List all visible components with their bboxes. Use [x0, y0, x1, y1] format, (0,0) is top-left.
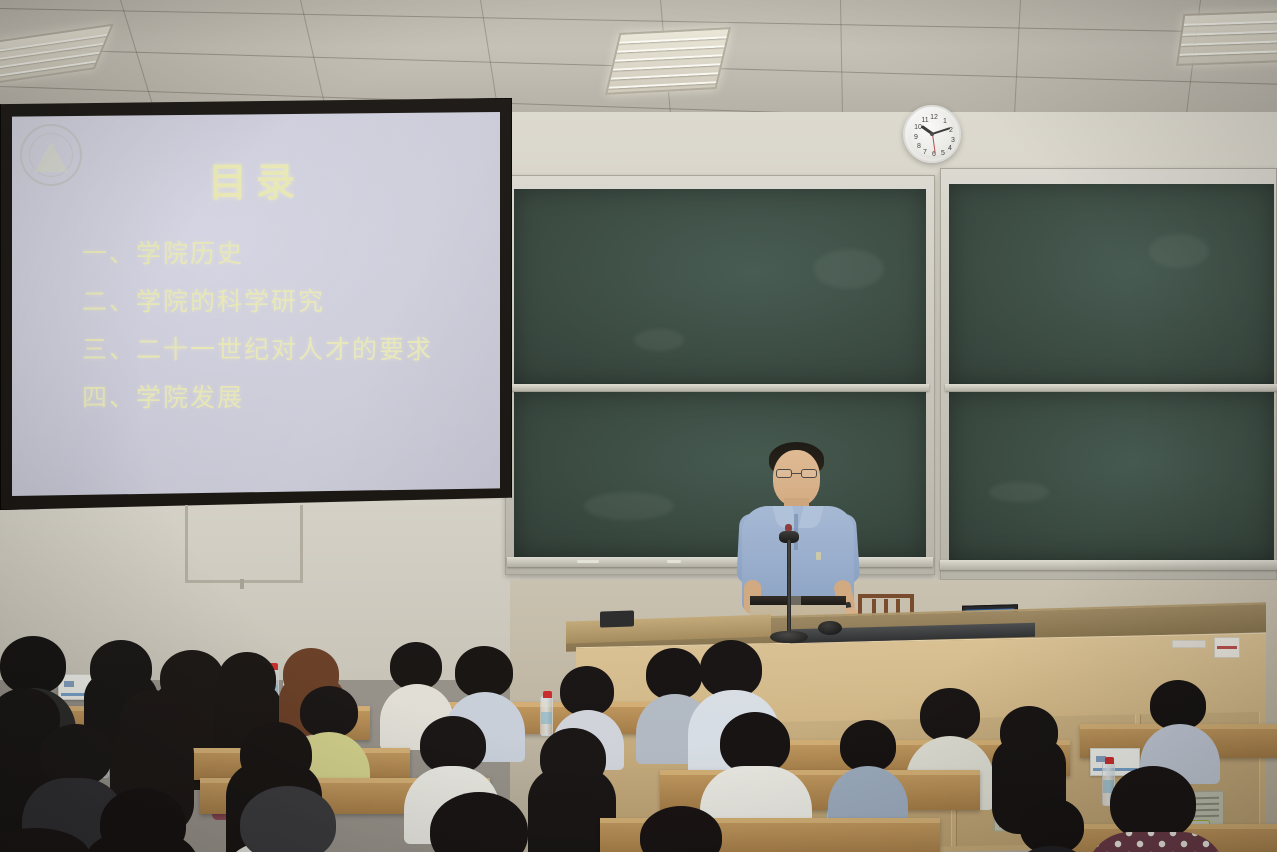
blackboard-left: [505, 175, 935, 575]
glasses-icon: [776, 469, 817, 478]
slide-bullet-item: 四、学院发展: [82, 374, 482, 422]
person-head: [560, 666, 614, 716]
clock-center-pin: [930, 132, 934, 136]
slide-bullet-item: 三、二十一世纪对人才的要求: [82, 326, 482, 374]
blackboard-left-upper: [514, 189, 926, 384]
podium-control-box[interactable]: [600, 610, 634, 627]
screen-mount-bracket: [185, 505, 303, 583]
microphone-stand: [787, 540, 791, 636]
chalk-piece: [667, 560, 681, 563]
blackboard-right-lower: [949, 392, 1274, 560]
person-head: [240, 786, 336, 852]
clock-numeral: 9: [911, 134, 921, 142]
clock-numeral: 12: [929, 114, 939, 122]
slide-surface: 目录 一、学院历史 二、学院的科学研究 三、二十一世纪对人才的要求 四、学院发展: [12, 112, 500, 496]
water-bottle: [540, 696, 553, 736]
slide-title: 目录: [12, 152, 500, 208]
person-head: [1020, 798, 1084, 852]
projection-screen: 目录 一、学院历史 二、学院的科学研究 三、二十一世纪对人才的要求 四、学院发展: [0, 98, 512, 510]
blackboard-left-midrail: [511, 384, 929, 391]
person-head: [1150, 680, 1206, 730]
chalk-piece: [577, 560, 599, 563]
person-head: [300, 686, 358, 738]
slide-bullet-list: 一、学院历史 二、学院的科学研究 三、二十一世纪对人才的要求 四、学院发展: [82, 230, 482, 422]
blackboard-left-chalkrail: [507, 557, 933, 567]
ceiling-light-right: [1176, 10, 1277, 66]
person-head: [390, 642, 442, 690]
shirt-logo: [816, 552, 821, 560]
slide-bullet-item: 一、学院历史: [82, 230, 482, 278]
person-head: [720, 712, 790, 774]
seated-audience: [0, 628, 1277, 852]
person-head: [0, 636, 66, 694]
blackboard-right-midrail: [945, 384, 1277, 391]
belt-buckle: [790, 596, 801, 605]
clock-numeral: 11: [920, 117, 930, 125]
person-head: [646, 648, 702, 700]
person-head: [920, 688, 980, 742]
blackboard-right: [940, 168, 1277, 580]
slide-bullet-item: 二、学院的科学研究: [82, 278, 482, 326]
person-head: [840, 720, 896, 772]
person-head: [40, 724, 112, 786]
wall-clock: 12 1 2 3 4 5 6 7 8 9 10 11: [903, 105, 961, 163]
clock-numeral: 8: [914, 143, 924, 151]
lecture-hall-photo: 12 1 2 3 4 5 6 7 8 9 10 11: [0, 0, 1277, 852]
clock-numeral: 5: [938, 150, 948, 158]
clock-numeral: 3: [948, 137, 958, 145]
blackboard-right-upper: [949, 184, 1274, 384]
clock-numeral: 1: [940, 118, 950, 126]
person-head: [1110, 766, 1196, 840]
person-head: [455, 646, 513, 698]
ceiling-light-center: [605, 27, 731, 95]
blackboard-right-chalkrail: [940, 560, 1277, 570]
